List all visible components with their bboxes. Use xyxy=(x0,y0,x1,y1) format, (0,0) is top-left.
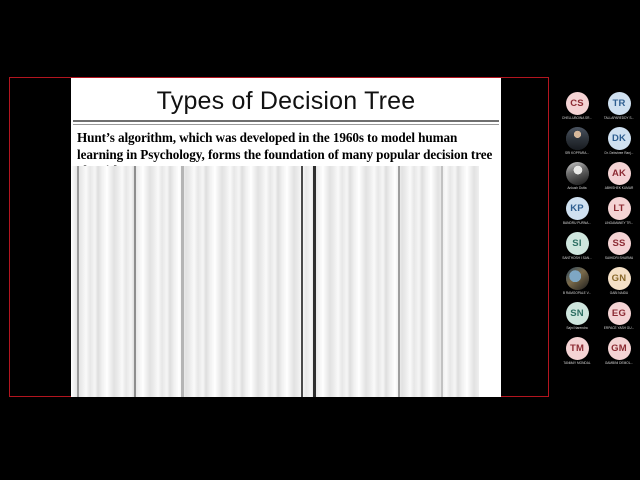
participant-initials: SS xyxy=(612,238,625,249)
participant-avatar xyxy=(566,127,589,150)
artifact-band xyxy=(301,166,303,397)
participant-photo xyxy=(566,267,589,290)
artifact-band xyxy=(479,166,501,397)
participant-name: CHELLUBOINA SR... xyxy=(556,116,598,120)
participant-name: Ankush Dutta xyxy=(556,186,598,190)
participant-name: Sajni Narendra xyxy=(556,326,598,330)
shared-screen-frame[interactable]: Types of Decision Tree Hunt’s algorithm,… xyxy=(9,77,549,397)
slide-title: Types of Decision Tree xyxy=(71,78,501,119)
participant-tile[interactable]: SNSajni Narendra xyxy=(556,302,598,337)
participant-avatar: GN xyxy=(608,267,631,290)
artifact-band xyxy=(398,166,400,397)
participant-tile[interactable]: GNGABI NAIDU xyxy=(598,267,640,302)
participant-avatar xyxy=(566,267,589,290)
participant-tile[interactable]: TMTANMAY MONDAL xyxy=(556,337,598,372)
participant-name: GABI NAIDU xyxy=(598,291,640,295)
artifact-band xyxy=(134,166,136,397)
participant-initials: SN xyxy=(570,308,584,319)
participant-tile[interactable]: SSSAIHIDRI SHARMA xyxy=(598,232,640,267)
participant-tile[interactable]: B RAMGOPALE V... xyxy=(556,267,598,302)
participant-avatar: SN xyxy=(566,302,589,325)
participant-name: BANDRU PURNA... xyxy=(556,221,598,225)
participant-name: B RAMGOPALE V... xyxy=(556,291,598,295)
participant-tile[interactable]: KPBANDRU PURNA... xyxy=(556,197,598,232)
participant-tile[interactable]: SISANTHOSH I SAN... xyxy=(556,232,598,267)
participant-initials: CS xyxy=(570,98,584,109)
participant-initials: GM xyxy=(611,343,627,354)
participant-name: SRI KOPPARA... xyxy=(556,151,598,155)
participant-avatar: CS xyxy=(566,92,589,115)
participant-avatar xyxy=(566,162,589,185)
participant-name: SAIHIDRI SHARMA xyxy=(598,256,640,260)
participant-tile[interactable]: EGERPACE YASH GU... xyxy=(598,302,640,337)
participant-rail[interactable]: CSCHELLUBOINA SR...TRTALLAPAREDDY S...SR… xyxy=(556,92,640,412)
participant-tile[interactable]: DKDr. Debshree Ranj... xyxy=(598,127,640,162)
participant-name: TANMAY MONDAL xyxy=(556,361,598,365)
participant-tile[interactable]: Ankush Dutta xyxy=(556,162,598,197)
participant-avatar: LT xyxy=(608,197,631,220)
participant-name: Dr. Debshree Ranj... xyxy=(598,151,640,155)
artifact-band xyxy=(77,166,79,397)
participant-avatar: TR xyxy=(608,92,631,115)
participant-name: SANTHOSH I SAN... xyxy=(556,256,598,260)
participant-tile[interactable]: TRTALLAPAREDDY S... xyxy=(598,92,640,127)
participant-photo xyxy=(566,162,589,185)
artifact-band xyxy=(313,166,316,397)
participant-avatar: KP xyxy=(566,197,589,220)
participant-avatar: AK xyxy=(608,162,631,185)
participant-avatar: SI xyxy=(566,232,589,255)
participant-name: TALLAPAREDDY S... xyxy=(598,116,640,120)
screen-share-artifact xyxy=(71,166,501,397)
participant-tile[interactable]: GMGAMBINI DEMOL... xyxy=(598,337,640,372)
participant-avatar: DK xyxy=(608,127,631,150)
participant-initials: DK xyxy=(612,133,626,144)
participant-name: GAMBINI DEMOL... xyxy=(598,361,640,365)
artifact-band xyxy=(441,166,443,397)
participant-tile[interactable]: SRI KOPPARA... xyxy=(556,127,598,162)
participant-initials: TM xyxy=(570,343,584,354)
artifact-band xyxy=(181,166,184,397)
participant-tile[interactable]: LTLINGAMANEY TR... xyxy=(598,197,640,232)
participant-avatar: SS xyxy=(608,232,631,255)
participant-avatar: EG xyxy=(608,302,631,325)
participant-tile[interactable]: AKABHISHEK KUMAR xyxy=(598,162,640,197)
participant-initials: LT xyxy=(613,203,624,214)
participant-avatar: GM xyxy=(608,337,631,360)
participant-name: ERPACE YASH GU... xyxy=(598,326,640,330)
participant-initials: KP xyxy=(570,203,584,214)
participant-initials: TR xyxy=(612,98,625,109)
participant-initials: EG xyxy=(612,308,626,319)
participant-name: ABHISHEK KUMAR xyxy=(598,186,640,190)
participant-photo xyxy=(566,127,589,150)
participant-initials: AK xyxy=(612,168,626,179)
participant-initials: SI xyxy=(572,238,581,249)
participant-initials: GN xyxy=(612,273,627,284)
participant-name: LINGAMANEY TR... xyxy=(598,221,640,225)
participant-tile[interactable]: CSCHELLUBOINA SR... xyxy=(556,92,598,127)
participant-avatar: TM xyxy=(566,337,589,360)
presentation-slide: Types of Decision Tree Hunt’s algorithm,… xyxy=(71,78,501,397)
